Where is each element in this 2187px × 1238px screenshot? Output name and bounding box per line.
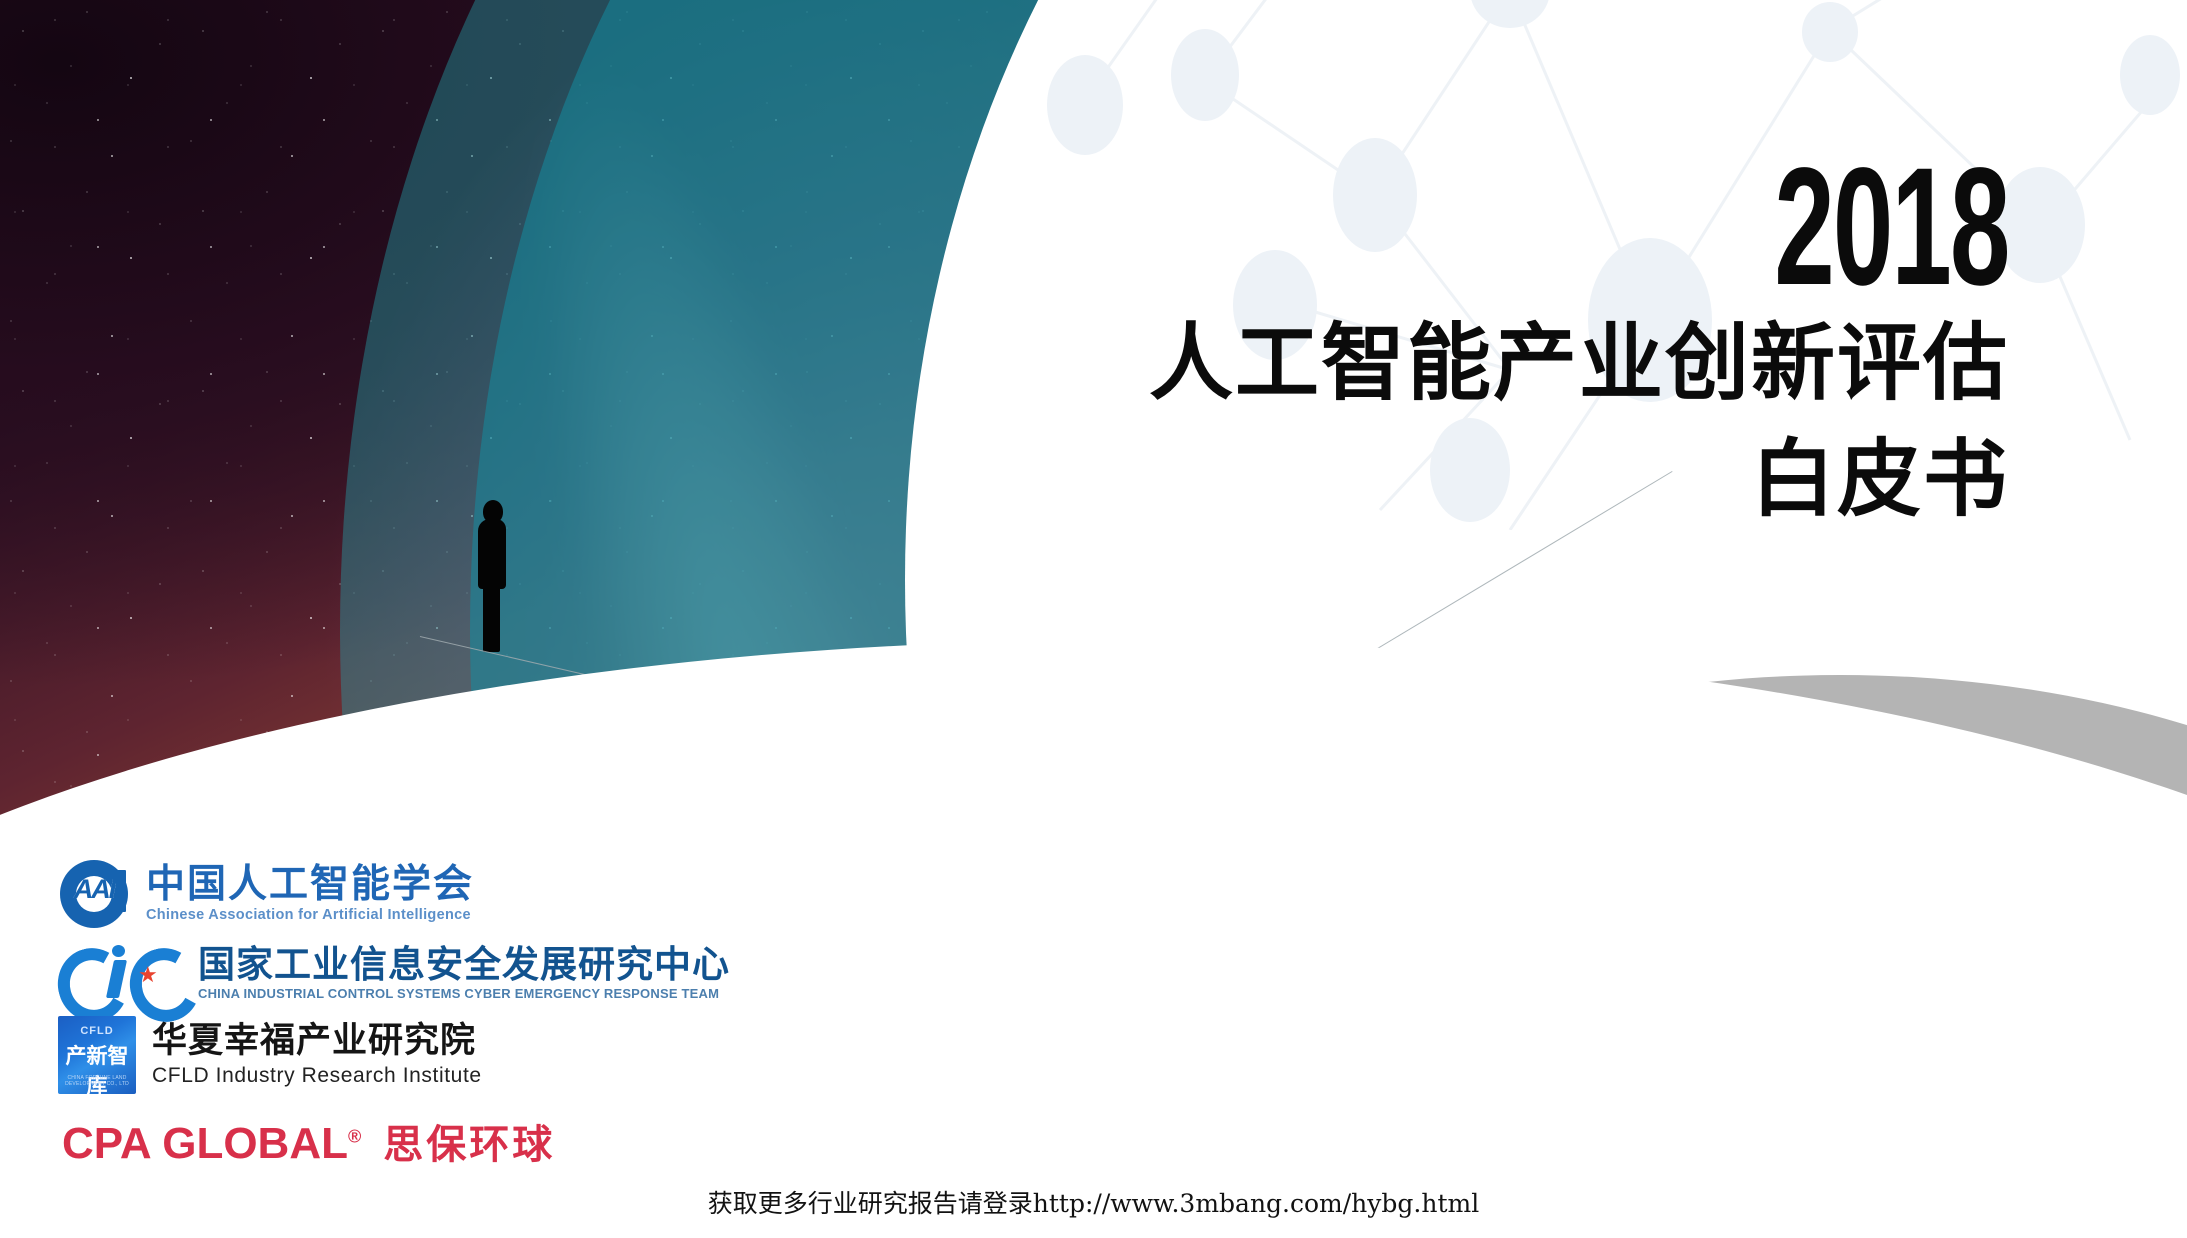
cover-title-line1: 人工智能产业创新评估 bbox=[1149, 296, 2009, 417]
caai-name-en: Chinese Association for Artificial Intel… bbox=[146, 908, 474, 923]
cover-title-line2: 白皮书 bbox=[1751, 412, 2009, 533]
cover-year: 2018 bbox=[1775, 152, 2009, 303]
cpa-global-name-en: CPA GLOBAL® bbox=[62, 1119, 361, 1169]
logo-caai: AAI 中国人工智能学会 Chinese Association for Art… bbox=[58, 858, 818, 930]
footer-source-url: 获取更多行业研究报告请登录http://www.3mbang.com/hybg.… bbox=[708, 1184, 1479, 1220]
logo-cic: ★ 国家工业信息安全发展研究中心 CHINA INDUSTRIAL CONTRO… bbox=[58, 944, 818, 1002]
cpa-global-name-cn: 思保环球 bbox=[383, 1112, 555, 1170]
caai-emblem-icon: AAI bbox=[58, 858, 130, 930]
cfld-emblem-icon: CFLD 产新智库 CHINA FORTUNE LAND DEVELOPMENT… bbox=[58, 1016, 136, 1094]
report-cover-page: 2018 人工智能产业创新评估 白皮书 AAI 中国人工智能学会 Chinese… bbox=[0, 0, 2187, 1238]
sponsor-logo-stack: AAI 中国人工智能学会 Chinese Association for Art… bbox=[58, 858, 818, 1170]
person-body bbox=[478, 519, 506, 589]
cpa-global-registered-icon: ® bbox=[348, 1126, 361, 1146]
cfld-mark-bottom: CHINA FORTUNE LAND DEVELOPMENT CO., LTD bbox=[58, 1075, 136, 1087]
caai-name-cn: 中国人工智能学会 bbox=[146, 865, 474, 906]
logo-cpa-global: CPA GLOBAL® 思保环球 bbox=[62, 1112, 818, 1170]
cfld-mark-top: CFLD bbox=[58, 1025, 136, 1037]
cfld-name-en: CFLD Industry Research Institute bbox=[152, 1065, 482, 1087]
cpa-global-wordmark: CPA GLOBAL bbox=[62, 1119, 348, 1168]
person-silhouette bbox=[473, 500, 515, 650]
cic-name-cn: 国家工业信息安全发展研究中心 bbox=[198, 946, 730, 984]
cic-emblem-icon: ★ bbox=[58, 944, 182, 1002]
cic-name-en: CHINA INDUSTRIAL CONTROL SYSTEMS CYBER E… bbox=[198, 987, 730, 1001]
cic-letter-i-dot bbox=[112, 945, 125, 957]
cic-text-block: 国家工业信息安全发展研究中心 CHINA INDUSTRIAL CONTROL … bbox=[198, 946, 730, 1001]
logo-cfld: CFLD 产新智库 CHINA FORTUNE LAND DEVELOPMENT… bbox=[58, 1016, 818, 1094]
caai-text-block: 中国人工智能学会 Chinese Association for Artific… bbox=[146, 865, 474, 924]
cfld-name-cn: 华夏幸福产业研究院 bbox=[152, 1023, 482, 1059]
person-legs bbox=[483, 584, 500, 652]
caai-bar bbox=[116, 870, 126, 912]
cfld-text-block: 华夏幸福产业研究院 CFLD Industry Research Institu… bbox=[152, 1023, 482, 1086]
